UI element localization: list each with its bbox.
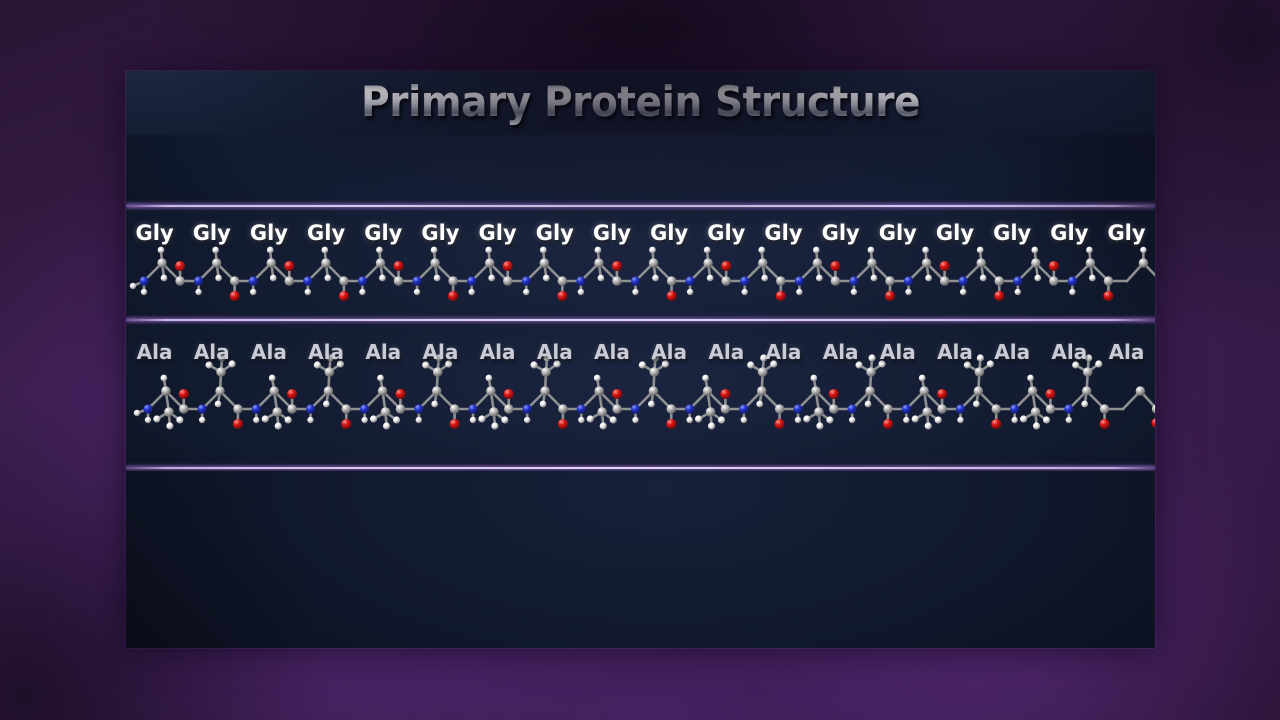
hydrogen-atom [270,275,277,282]
hydrogen-atom [639,361,646,368]
carbon-atom [1100,404,1109,413]
hydrogen-atom [851,289,857,295]
hydrogen-atom [756,401,763,408]
carbon-atom [179,404,188,413]
carbon-atom [975,367,985,377]
hydrogen-atom [742,289,748,295]
nitrogen-atom [1010,404,1019,413]
carbon-atom [758,258,767,267]
nitrogen-atom [740,276,749,285]
hydrogen-atom [195,289,201,295]
hydrogen-atom [530,361,537,368]
oxygen-atom [991,419,1001,429]
hydrogen-atom [215,275,222,282]
carbon-atom [1104,276,1113,285]
nitrogen-atom [1068,276,1077,285]
carbon-atom [813,258,822,267]
hydrogen-atom [166,422,173,429]
hydrogen-atom [662,360,669,367]
hydrogen-atom [598,275,605,282]
carbon-atom [285,276,294,285]
hydrogen-atom [796,289,802,295]
hydrogen-atom [741,417,747,423]
carbon-atom [775,404,784,413]
carbon-atom [558,276,567,285]
hydrogen-atom [337,360,344,367]
nitrogen-atom [739,404,748,413]
oxygen-atom [940,261,950,271]
oxygen-atom [885,291,895,301]
nitrogen-atom [904,276,913,285]
hydrogen-atom [595,247,602,254]
carbon-atom [378,386,387,395]
nitrogen-atom [306,404,315,413]
carbon-atom [267,258,276,267]
hydrogen-atom [1020,415,1027,422]
hydrogen-atom [747,361,754,368]
hydrogen-atom [468,289,474,295]
hydrogen-atom [987,360,994,367]
carbon-atom [1031,258,1040,267]
hydrogen-atom [416,417,422,423]
hydrogen-atom [431,401,438,408]
hydrogen-atom [964,361,971,368]
carbon-atom [1139,258,1148,267]
nitrogen-atom [252,404,261,413]
carbon-atom [940,276,949,285]
oxygen-atom [1100,419,1110,429]
hydrogen-atom [925,275,932,282]
nitrogen-atom [849,276,858,285]
nitrogen-atom [793,404,802,413]
molecule-chain-gly [126,237,1155,307]
oxygen-atom [612,389,622,399]
hydrogen-atom [383,422,390,429]
carbon-atom [324,386,333,395]
oxygen-atom [557,291,567,301]
polyalanine-backbone [134,354,1155,429]
carbon-atom [540,258,549,267]
hydrogen-atom [935,416,942,423]
nitrogen-atom [139,276,148,285]
hydrogen-atom [1027,375,1034,382]
hydrogen-atom [919,375,926,382]
hydrogen-atom [376,247,383,254]
carbon-atom [594,258,603,267]
oxygen-atom [448,291,458,301]
carbon-atom [448,276,457,285]
carbon-atom [394,276,403,285]
carbon-atom [342,404,351,413]
carbon-atom [164,407,174,417]
hydrogen-atom [855,361,862,368]
hydrogen-atom [324,275,331,282]
hydrogen-atom [218,354,225,361]
carbon-atom [381,407,391,417]
hydrogen-atom [686,417,692,423]
slide-stage: Primary Protein Structure GlyGlyGlyGlyGl… [0,0,1280,720]
hydrogen-atom [205,361,212,368]
hydrogen-atom [314,361,321,368]
carbon-atom [758,367,768,377]
hydrogen-atom [215,401,222,408]
carbon-atom [612,404,621,413]
carbon-atom [450,404,459,413]
oxygen-atom [1049,261,1059,271]
carbon-atom [865,386,874,395]
hydrogen-atom [130,283,136,289]
divider-glow [126,315,1155,325]
carbon-atom [992,404,1001,413]
carbon-atom [503,276,512,285]
carbon-atom [757,386,766,395]
hydrogen-atom [250,289,256,295]
hydrogen-atom [1081,401,1088,408]
hydrogen-atom [431,247,438,254]
carbon-atom [157,258,166,267]
carbon-atom [1028,386,1037,395]
hydrogen-atom [708,422,715,429]
carbon-atom [885,276,894,285]
hydrogen-atom [849,417,855,423]
hydrogen-atom [379,275,386,282]
hydrogen-atom [359,289,365,295]
hydrogen-atom [1066,417,1072,423]
slide-empty-region [126,471,1155,648]
carbon-atom [486,386,495,395]
hydrogen-atom [141,289,147,295]
carbon-atom [703,258,712,267]
carbon-atom [706,407,716,417]
carbon-atom [376,258,385,267]
carbon-atom [272,407,282,417]
oxygen-atom [667,291,677,301]
carbon-atom [1031,407,1041,417]
hydrogen-atom [501,416,508,423]
hydrogen-atom [370,415,377,422]
hydrogen-atom [578,289,584,295]
carbon-atom [1049,276,1058,285]
oxygen-atom [883,419,893,429]
hydrogen-atom [305,289,311,295]
oxygen-atom [829,389,839,399]
carbon-atom [321,258,330,267]
hydrogen-atom [816,275,823,282]
slide-panel: Primary Protein Structure GlyGlyGlyGlyGl… [126,71,1155,648]
hydrogen-atom [228,360,235,367]
nitrogen-atom [198,404,207,413]
divider-line [126,205,1155,207]
nitrogen-atom [468,404,477,413]
carbon-atom [287,404,296,413]
carbon-atom [811,386,820,395]
hydrogen-atom [478,415,485,422]
hydrogen-atom [803,415,810,422]
hydrogen-atom [594,375,601,382]
oxygen-atom [341,419,351,429]
carbon-atom [233,404,242,413]
nitrogen-atom [194,276,203,285]
carbon-atom [1086,258,1095,267]
carbon-atom [976,258,985,267]
hydrogen-atom [262,415,269,422]
nitrogen-atom [523,404,532,413]
hydrogen-atom [649,247,656,254]
hydrogen-atom [707,275,714,282]
hydrogen-atom [813,247,820,254]
carbon-atom [1136,386,1145,395]
hydrogen-atom [903,417,909,423]
carbon-atom [230,276,239,285]
oxygen-atom [339,291,349,301]
hydrogen-atom [704,247,711,254]
hydrogen-atom [488,275,495,282]
hydrogen-atom [543,275,550,282]
divider-top [126,201,1155,211]
oxygen-atom [776,291,786,301]
hydrogen-atom [161,275,168,282]
hydrogen-atom [145,417,151,423]
carbon-atom [430,258,439,267]
hydrogen-atom [253,417,259,423]
hydrogen-atom [760,354,767,361]
hydrogen-atom [648,401,655,408]
hydrogen-atom [161,375,168,382]
carbon-atom [974,386,983,395]
hydrogen-atom [973,401,980,408]
nitrogen-atom [685,404,694,413]
carbon-atom [540,386,549,395]
hydrogen-atom [267,247,274,254]
carbon-atom [650,367,660,377]
hydrogen-atom [321,247,328,254]
oxygen-atom [994,291,1004,301]
nitrogen-atom [795,276,804,285]
nitrogen-atom [522,276,531,285]
carbon-atom [922,258,931,267]
hydrogen-atom [158,247,165,254]
hydrogen-atom [393,416,400,423]
nitrogen-atom [902,404,911,413]
carbon-atom [1082,386,1091,395]
hydrogen-atom [491,422,498,429]
nitrogen-atom [686,276,695,285]
chain-row-ala: AlaAlaAlaAlaAlaAlaAlaAlaAlaAlaAlaAlaAlaA… [126,325,1155,463]
hydrogen-atom [543,354,550,361]
hydrogen-atom [377,375,384,382]
divider-line [126,467,1155,469]
nitrogen-atom [959,276,968,285]
oxygen-atom [175,261,185,271]
hydrogen-atom [770,360,777,367]
hydrogen-atom [540,401,547,408]
hydrogen-atom [878,360,885,367]
nitrogen-atom [631,276,640,285]
hydrogen-atom [587,415,594,422]
hydrogen-atom [323,401,330,408]
hydrogen-atom [980,275,987,282]
hydrogen-atom [925,422,932,429]
hydrogen-atom [176,416,183,423]
nitrogen-atom [467,276,476,285]
oxygen-atom [503,261,513,271]
hydrogen-atom [540,247,547,254]
hydrogen-atom [868,247,875,254]
carbon-atom [597,407,607,417]
carbon-atom [667,404,676,413]
oxygen-atom [666,419,676,429]
carbon-atom [883,404,892,413]
carbon-atom [814,407,824,417]
hydrogen-atom [922,247,929,254]
divider-glow [126,201,1155,211]
hydrogen-atom [1069,289,1075,295]
carbon-atom [649,386,658,395]
hydrogen-atom [695,415,702,422]
carbon-atom [1046,404,1055,413]
nitrogen-atom [412,276,421,285]
carbon-atom [558,404,567,413]
hydrogen-atom [865,401,872,408]
oxygen-atom [558,419,568,429]
carbon-atom [396,404,405,413]
hydrogen-atom [275,422,282,429]
hydrogen-atom [977,247,984,254]
hydrogen-atom [912,415,919,422]
carbon-atom [325,367,335,377]
oxygen-atom [1045,389,1055,399]
hydrogen-atom [470,417,476,423]
carbon-atom [489,407,499,417]
carbon-atom [595,386,604,395]
oxygen-atom [393,261,403,271]
divider-middle [126,315,1155,325]
oxygen-atom [504,389,514,399]
hydrogen-atom [1095,360,1102,367]
carbon-atom [920,386,929,395]
hydrogen-atom [486,375,493,382]
nitrogen-atom [414,404,423,413]
carbon-atom [612,276,621,285]
hydrogen-atom [1072,361,1079,368]
hydrogen-atom [687,289,693,295]
hydrogen-atom [826,416,833,423]
hydrogen-atom [523,289,529,295]
hydrogen-atom [977,354,984,361]
polyglycine-backbone [130,247,1155,301]
carbon-atom [867,258,876,267]
nitrogen-atom [360,404,369,413]
hydrogen-atom [960,289,966,295]
carbon-atom [161,386,170,395]
carbon-atom [215,386,224,395]
hydrogen-atom [795,417,801,423]
oxygen-atom [230,291,240,301]
nitrogen-atom [1013,276,1022,285]
hydrogen-atom [1011,417,1017,423]
hydrogen-atom [212,247,219,254]
hydrogen-atom [632,417,638,423]
oxygen-atom [284,261,294,271]
hydrogen-atom [307,417,313,423]
oxygen-atom [1103,291,1113,301]
title-band: Primary Protein Structure [126,71,1155,135]
nitrogen-atom [577,404,586,413]
hydrogen-atom [485,247,492,254]
hydrogen-atom [600,422,607,429]
hydrogen-atom [269,375,276,382]
carbon-atom [721,276,730,285]
hydrogen-atom [327,354,334,361]
chain-row-gly: GlyGlyGlyGlyGlyGlyGlyGlyGlyGlyGlyGlyGlyG… [126,211,1155,315]
hydrogen-atom [816,422,823,429]
carbon-atom [212,258,221,267]
carbon-atom [541,367,551,377]
hydrogen-atom [1034,275,1041,282]
hydrogen-atom [553,360,560,367]
page-title: Primary Protein Structure [361,81,920,125]
hydrogen-atom [1140,247,1146,253]
nitrogen-atom [143,404,152,413]
nitrogen-atom [576,276,585,285]
carbon-atom [831,276,840,285]
hydrogen-atom [868,354,875,361]
divider-line [126,319,1155,321]
carbon-atom [703,386,712,395]
hydrogen-atom [414,289,420,295]
carbon-atom [339,276,348,285]
hydrogen-atom [1043,416,1050,423]
oxygen-atom [775,419,785,429]
hydrogen-atom [285,416,292,423]
carbon-atom [433,367,443,377]
hydrogen-atom [871,275,878,282]
molecule-chain-ala [126,347,1155,459]
carbon-atom [270,386,279,395]
hydrogen-atom [652,275,659,282]
nitrogen-atom [249,276,258,285]
carbon-atom [922,407,932,417]
hydrogen-atom [422,361,429,368]
nitrogen-atom [631,404,640,413]
hydrogen-atom [1089,275,1096,282]
carbon-atom [667,276,676,285]
oxygen-atom [1152,418,1155,428]
hydrogen-atom [702,375,709,382]
hydrogen-atom [811,375,818,382]
oxygen-atom [937,389,947,399]
hydrogen-atom [1031,247,1038,254]
hydrogen-atom [758,247,765,254]
carbon-atom [432,386,441,395]
oxygen-atom [179,389,189,399]
oxygen-atom [395,389,405,399]
hydrogen-atom [761,275,768,282]
hydrogen-atom [1086,247,1093,254]
carbon-atom [776,276,785,285]
nitrogen-atom [358,276,367,285]
carbon-atom [995,276,1004,285]
carbon-atom [216,367,226,377]
hydrogen-atom [718,416,725,423]
oxygen-atom [721,261,731,271]
nitrogen-atom [848,404,857,413]
hydrogen-atom [652,354,659,361]
oxygen-atom [233,419,243,429]
hydrogen-atom [1085,354,1092,361]
carbon-atom [485,258,494,267]
carbon-atom [649,258,658,267]
